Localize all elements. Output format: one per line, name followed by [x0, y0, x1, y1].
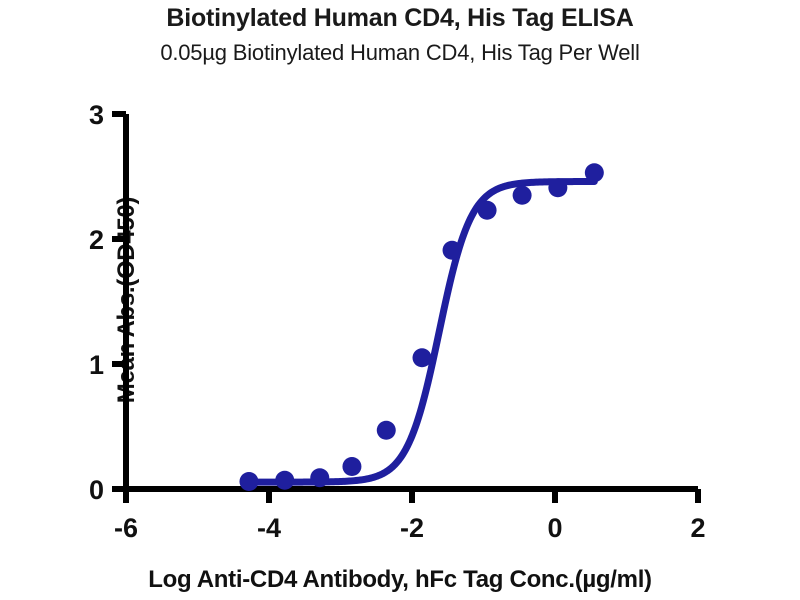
x-tick-label: -6: [114, 513, 138, 543]
y-tick-label: 3: [89, 100, 104, 130]
data-point: [413, 348, 432, 367]
x-tick-label: -2: [400, 513, 424, 543]
x-tick-label: 0: [547, 513, 562, 543]
data-point: [548, 178, 567, 197]
data-point: [239, 472, 258, 491]
data-point: [585, 163, 604, 182]
data-point: [513, 186, 532, 205]
data-point: [443, 241, 462, 260]
tick-labels: -6-4-2020123: [89, 100, 706, 543]
plot-area: -6-4-2020123: [0, 0, 800, 600]
data-points: [239, 163, 603, 491]
sigmoid-fit-line: [249, 182, 594, 483]
elisa-chart: Biotinylated Human CD4, His Tag ELISA 0.…: [0, 0, 800, 600]
x-tick-label: -4: [257, 513, 281, 543]
data-point: [478, 201, 497, 220]
data-point: [377, 421, 396, 440]
x-tick-label: 2: [690, 513, 705, 543]
y-tick-label: 1: [89, 350, 104, 380]
data-point: [310, 468, 329, 487]
y-tick-label: 2: [89, 225, 104, 255]
y-tick-label: 0: [89, 475, 104, 505]
data-point: [275, 471, 294, 490]
fit-curve: [249, 182, 594, 483]
data-point: [342, 457, 361, 476]
